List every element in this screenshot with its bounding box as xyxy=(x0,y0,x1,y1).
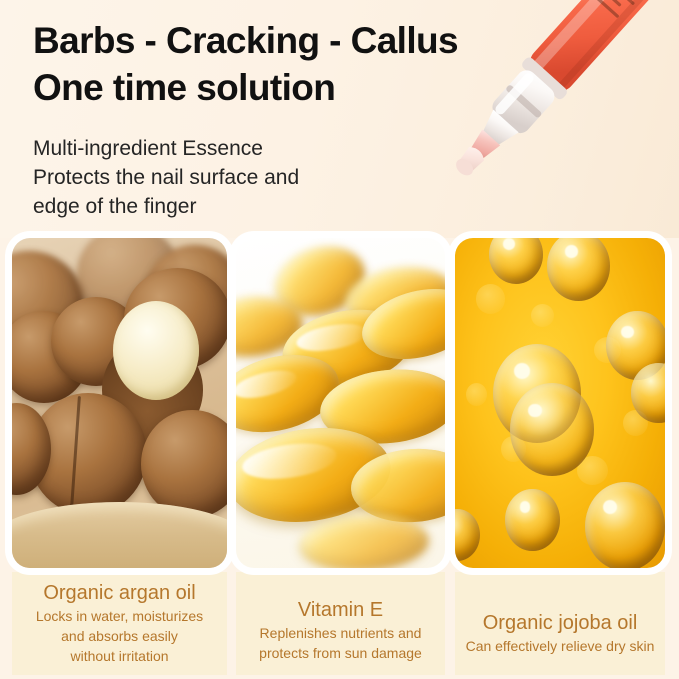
argan-title: Organic argan oil xyxy=(18,580,221,606)
jojoba-oil-bubbles-photo xyxy=(455,238,665,568)
subheadline-line-3: edge of the finger xyxy=(33,192,433,221)
subheadline-block: Multi-ingredient Essence Protects the na… xyxy=(33,134,433,221)
argan-desc-line-3: without irritation xyxy=(18,646,221,666)
ingredient-cards: Organic argan oil Locks in water, moistu… xyxy=(0,238,679,679)
argan-desc-line-2: and absorbs easily xyxy=(18,626,221,646)
ingredient-card-vitamin-e[interactable]: Vitamin E Replenishes nutrients and prot… xyxy=(236,238,445,675)
argan-desc-line-1: Locks in water, moisturizes xyxy=(18,606,221,626)
product-infographic: Barbs - Cracking - Callus One time solut… xyxy=(0,0,679,679)
vitamin-e-title: Vitamin E xyxy=(242,597,439,623)
ingredient-card-jojoba[interactable]: Organic jojoba oil Can effectively relie… xyxy=(455,238,665,675)
subheadline-line-1: Multi-ingredient Essence xyxy=(33,134,433,163)
ingredient-card-argan[interactable]: Organic argan oil Locks in water, moistu… xyxy=(12,238,227,675)
vitamin-e-capsules-photo xyxy=(236,238,445,568)
argan-nuts-photo xyxy=(12,238,227,568)
vitamin-e-desc-line-2: protects from sun damage xyxy=(242,643,439,663)
hero-section: Barbs - Cracking - Callus One time solut… xyxy=(0,0,679,238)
jojoba-text-panel: Organic jojoba oil Can effectively relie… xyxy=(455,572,665,675)
jojoba-title: Organic jojoba oil xyxy=(461,610,659,636)
vitamin-e-text-panel: Vitamin E Replenishes nutrients and prot… xyxy=(236,572,445,675)
cuticle-oil-pen-image xyxy=(388,0,679,211)
vitamin-e-desc-line-1: Replenishes nutrients and xyxy=(242,623,439,643)
jojoba-desc-line-1: Can effectively relieve dry skin xyxy=(461,636,659,656)
argan-text-panel: Organic argan oil Locks in water, moistu… xyxy=(12,572,227,675)
subheadline-line-2: Protects the nail surface and xyxy=(33,163,433,192)
